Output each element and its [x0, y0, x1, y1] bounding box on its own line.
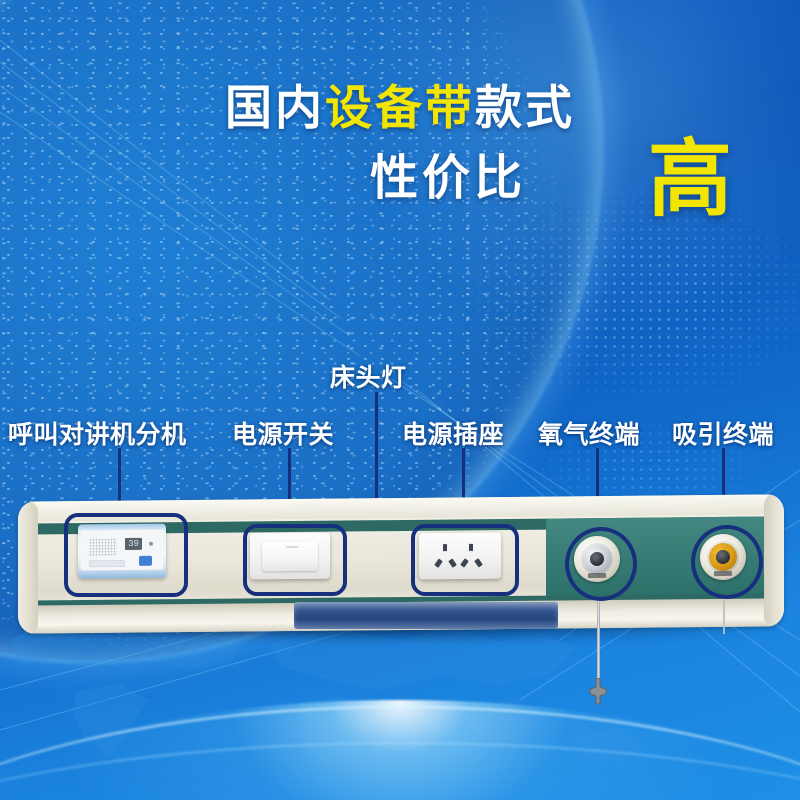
- panel-endcap-left: [18, 499, 38, 633]
- callout-label-power-socket: 电源插座: [402, 415, 504, 451]
- panel-endcap-right: [764, 494, 784, 628]
- headline-block: 国内设备带款式: [0, 84, 800, 131]
- headline-part-2-highlight: 设备带: [325, 81, 475, 134]
- oxygen-probe-connector-icon: [583, 678, 613, 708]
- headline-line-2: 性价比: [370, 155, 526, 203]
- highlight-power-socket: [411, 524, 519, 596]
- highlight-nurse-call: [64, 513, 188, 597]
- oxygen-probe-cord: [597, 600, 600, 682]
- headline-line-1: 国内设备带款式: [0, 84, 800, 131]
- callout-label-oxygen: 氧气终端: [538, 415, 640, 451]
- headline-line-2-row: 性价比 高: [0, 155, 800, 235]
- headline-part-3: 款式: [475, 81, 575, 134]
- promo-banner: 国内设备带款式 性价比 高 呼叫对讲机分机 电源开关 床头灯 电源插座 氧气终端…: [0, 0, 800, 800]
- highlight-suction: [691, 525, 763, 599]
- callout-label-suction: 吸引终端: [672, 415, 774, 451]
- callout-label-power-switch: 电源开关: [232, 415, 334, 451]
- horizon-arc-primary: [0, 706, 800, 800]
- highlight-power-switch: [243, 524, 347, 596]
- bed-light-strip[interactable]: [294, 602, 558, 629]
- headline-emphasis-gao: 高: [648, 137, 732, 221]
- highlight-oxygen: [565, 527, 637, 601]
- callout-label-bed-light: 床头灯: [330, 358, 407, 394]
- headline-part-1: 国内: [225, 81, 325, 134]
- suction-probe-cord: [723, 598, 725, 634]
- horizon-glow: [0, 700, 800, 800]
- callout-label-nurse-call: 呼叫对讲机分机: [8, 415, 187, 451]
- horizon-arc-secondary: [0, 742, 800, 800]
